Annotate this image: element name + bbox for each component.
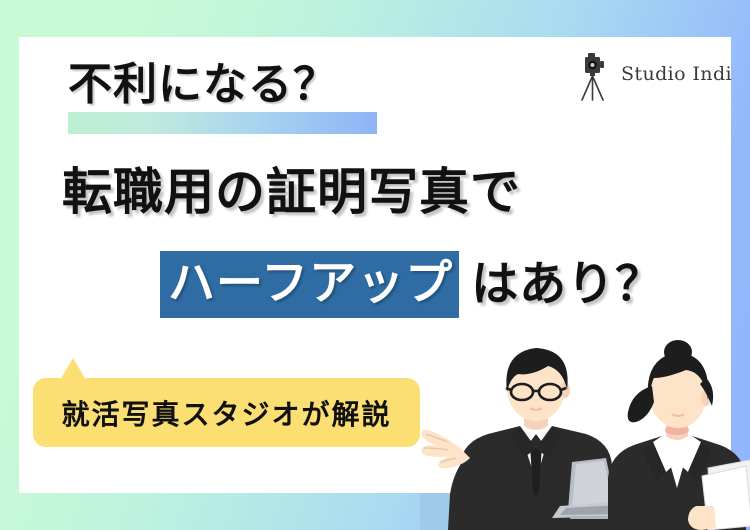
thumbnail-canvas: Studio Indi 不利になる？ 転職用の証明写真で ハーフアップ はあり？… — [0, 0, 750, 530]
headline-line-3: ハーフアップ はあり？ — [160, 252, 663, 316]
headline-highlight-bar — [68, 112, 377, 134]
speech-bubble-label: 就活写真スタジオが解説 — [61, 393, 391, 433]
two-business-people-illustration — [420, 330, 750, 530]
brand-name: Studio Indi — [621, 65, 732, 87]
headline-line-2: 転職用の証明写真で — [62, 166, 521, 219]
speech-bubble-tail — [60, 358, 86, 380]
studio-indi-logo[interactable]: Studio Indi — [578, 48, 718, 104]
headline-line-3-tail: はあり？ — [471, 261, 663, 308]
headline-keyword-box: ハーフアップ — [160, 251, 459, 318]
tripod-camera-icon — [578, 50, 614, 102]
headline-line-1: 不利になる？ — [68, 62, 338, 108]
speech-bubble-badge: 就活写真スタジオが解説 — [33, 378, 420, 447]
